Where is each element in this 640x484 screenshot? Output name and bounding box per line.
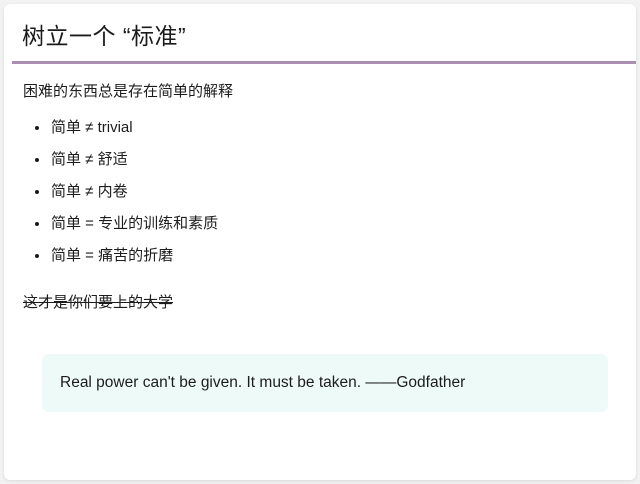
slide-card: 树立一个 “标准” 困难的东西总是存在简单的解释 简单 ≠ trivial 简单…: [4, 4, 636, 480]
lead-paragraph: 困难的东西总是存在简单的解释: [23, 80, 233, 104]
list-item-label: 简单 = 专业的训练和素质: [51, 215, 218, 232]
list-item: 简单 ≠ 舒适: [23, 144, 218, 176]
slide-title: 树立一个 “标准”: [22, 20, 186, 52]
list-item: 简单 = 痛苦的折磨: [23, 240, 218, 272]
strikethrough-note: 这才是你们要上的大学: [23, 291, 173, 315]
quote-callout-box: Real power can't be given. It must be ta…: [42, 354, 608, 412]
list-item-label: 简单 = 痛苦的折磨: [51, 247, 173, 264]
list-item: 简单 ≠ trivial: [23, 112, 218, 144]
list-item-label: 简单 ≠ 内卷: [51, 183, 128, 200]
list-item-label: 简单 ≠ 舒适: [51, 151, 128, 168]
list-item-label: 简单 ≠ trivial: [51, 119, 133, 136]
list-item: 简单 = 专业的训练和素质: [23, 208, 218, 240]
list-item: 简单 ≠ 内卷: [23, 176, 218, 208]
bullet-list: 简单 ≠ trivial 简单 ≠ 舒适 简单 ≠ 内卷 简单 = 专业的训练和…: [23, 112, 218, 272]
title-underline-rule: [12, 61, 636, 64]
quote-text: Real power can't be given. It must be ta…: [60, 354, 596, 412]
